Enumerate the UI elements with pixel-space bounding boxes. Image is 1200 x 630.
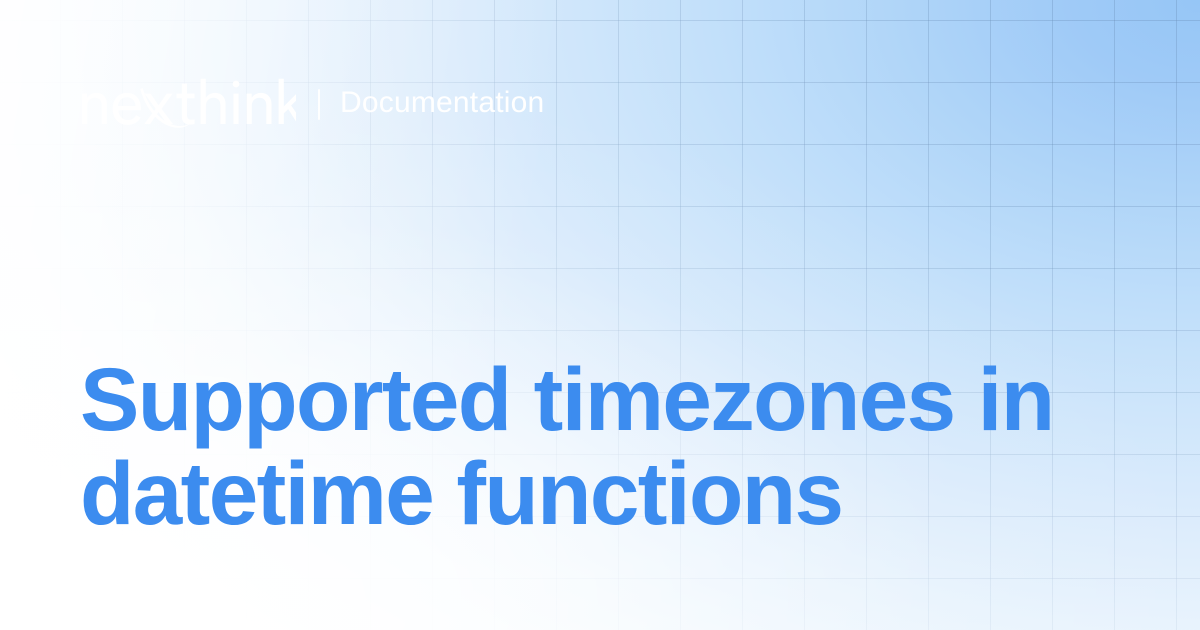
- page-title-line-1: Supported timezones in: [80, 352, 1125, 446]
- page-title-line-2: datetime functions: [80, 446, 1125, 540]
- nexthink-logo[interactable]: [80, 77, 296, 131]
- page-title: Supported timezones in datetime function…: [80, 352, 1125, 540]
- brand-header: Documentation: [80, 76, 544, 132]
- nexthink-wordmark-logo: [80, 77, 296, 131]
- social-card: Documentation Supported timezones in dat…: [0, 0, 1200, 630]
- brand-divider-icon: [318, 89, 320, 120]
- brand-label: Documentation: [340, 88, 544, 120]
